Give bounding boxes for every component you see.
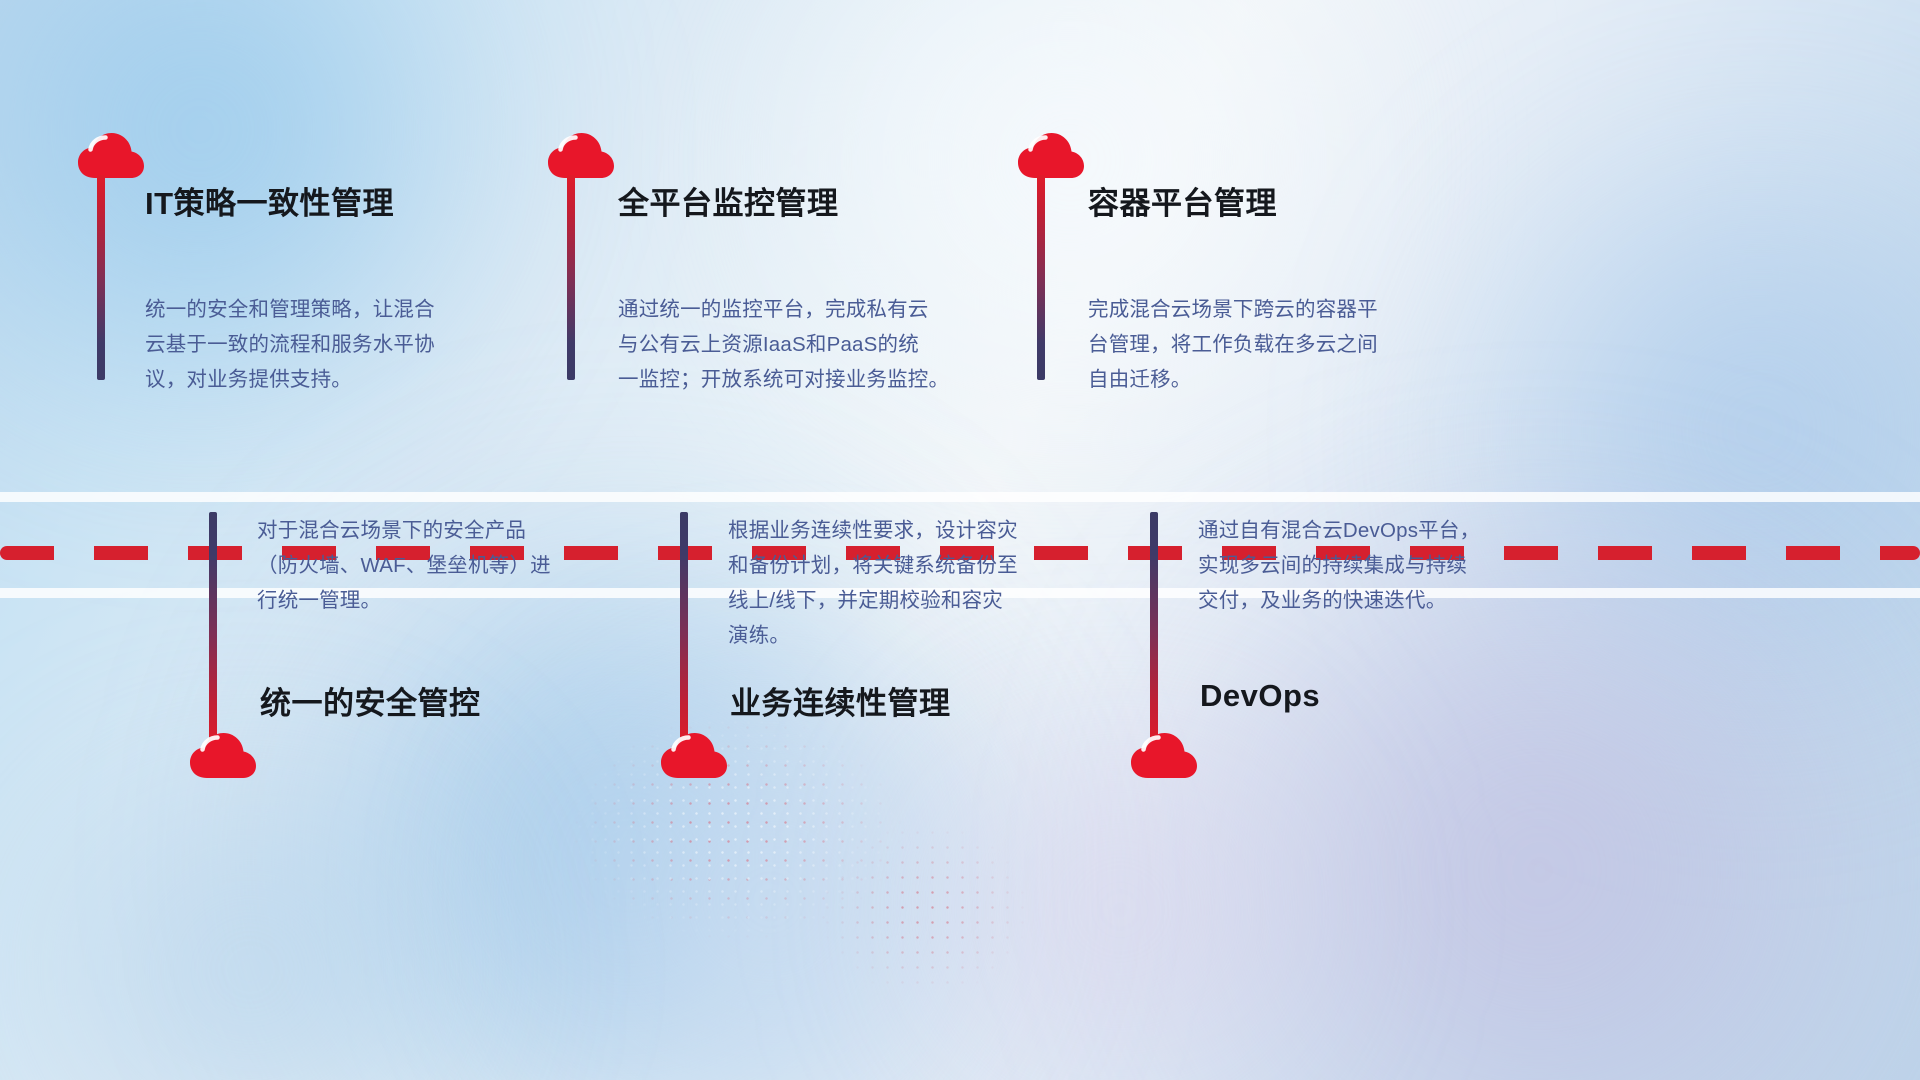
feature-title: 业务连续性管理 bbox=[730, 678, 951, 723]
connector-stem bbox=[567, 175, 575, 380]
feature-body: 通过统一的监控平台，完成私有云 与公有云上资源IaaS和PaaS的统 一监控；开… bbox=[618, 292, 1018, 397]
divider-band-top bbox=[0, 492, 1920, 502]
feature-body: 完成混合云场景下跨云的容器平 台管理，将工作负载在多云之间 自由迁移。 bbox=[1088, 292, 1468, 397]
feature-body: 根据业务连续性要求，设计容灾 和备份计划，将关键系统备份至 线上/线下，并定期校… bbox=[728, 513, 1088, 653]
feature-title: DevOps bbox=[1200, 678, 1320, 714]
connector-stem bbox=[1037, 175, 1045, 380]
cloud-icon bbox=[548, 133, 614, 181]
feature-body: 通过自有混合云DevOps平台， 实现多云间的持续集成与持续 交付，及业务的快速… bbox=[1198, 513, 1558, 618]
particle-texture bbox=[820, 810, 1120, 1060]
connector-stem bbox=[1150, 512, 1158, 747]
connector-stem bbox=[97, 175, 105, 380]
cloud-icon bbox=[78, 133, 144, 181]
feature-title: 全平台监控管理 bbox=[618, 178, 839, 223]
feature-title: IT策略一致性管理 bbox=[145, 178, 394, 223]
cloud-icon bbox=[1131, 733, 1197, 781]
cloud-icon bbox=[661, 733, 727, 781]
connector-stem bbox=[209, 512, 217, 747]
cloud-icon bbox=[190, 733, 256, 781]
feature-title: 统一的安全管控 bbox=[260, 678, 481, 723]
feature-body: 统一的安全和管理策略，让混合 云基于一致的流程和服务水平协 议，对业务提供支持。 bbox=[145, 292, 515, 397]
feature-title: 容器平台管理 bbox=[1088, 178, 1277, 223]
feature-body: 对于混合云场景下的安全产品 （防火墙、WAF、堡垒机等）进 行统一管理。 bbox=[257, 513, 617, 618]
cloud-icon bbox=[1018, 133, 1084, 181]
connector-stem bbox=[680, 512, 688, 747]
